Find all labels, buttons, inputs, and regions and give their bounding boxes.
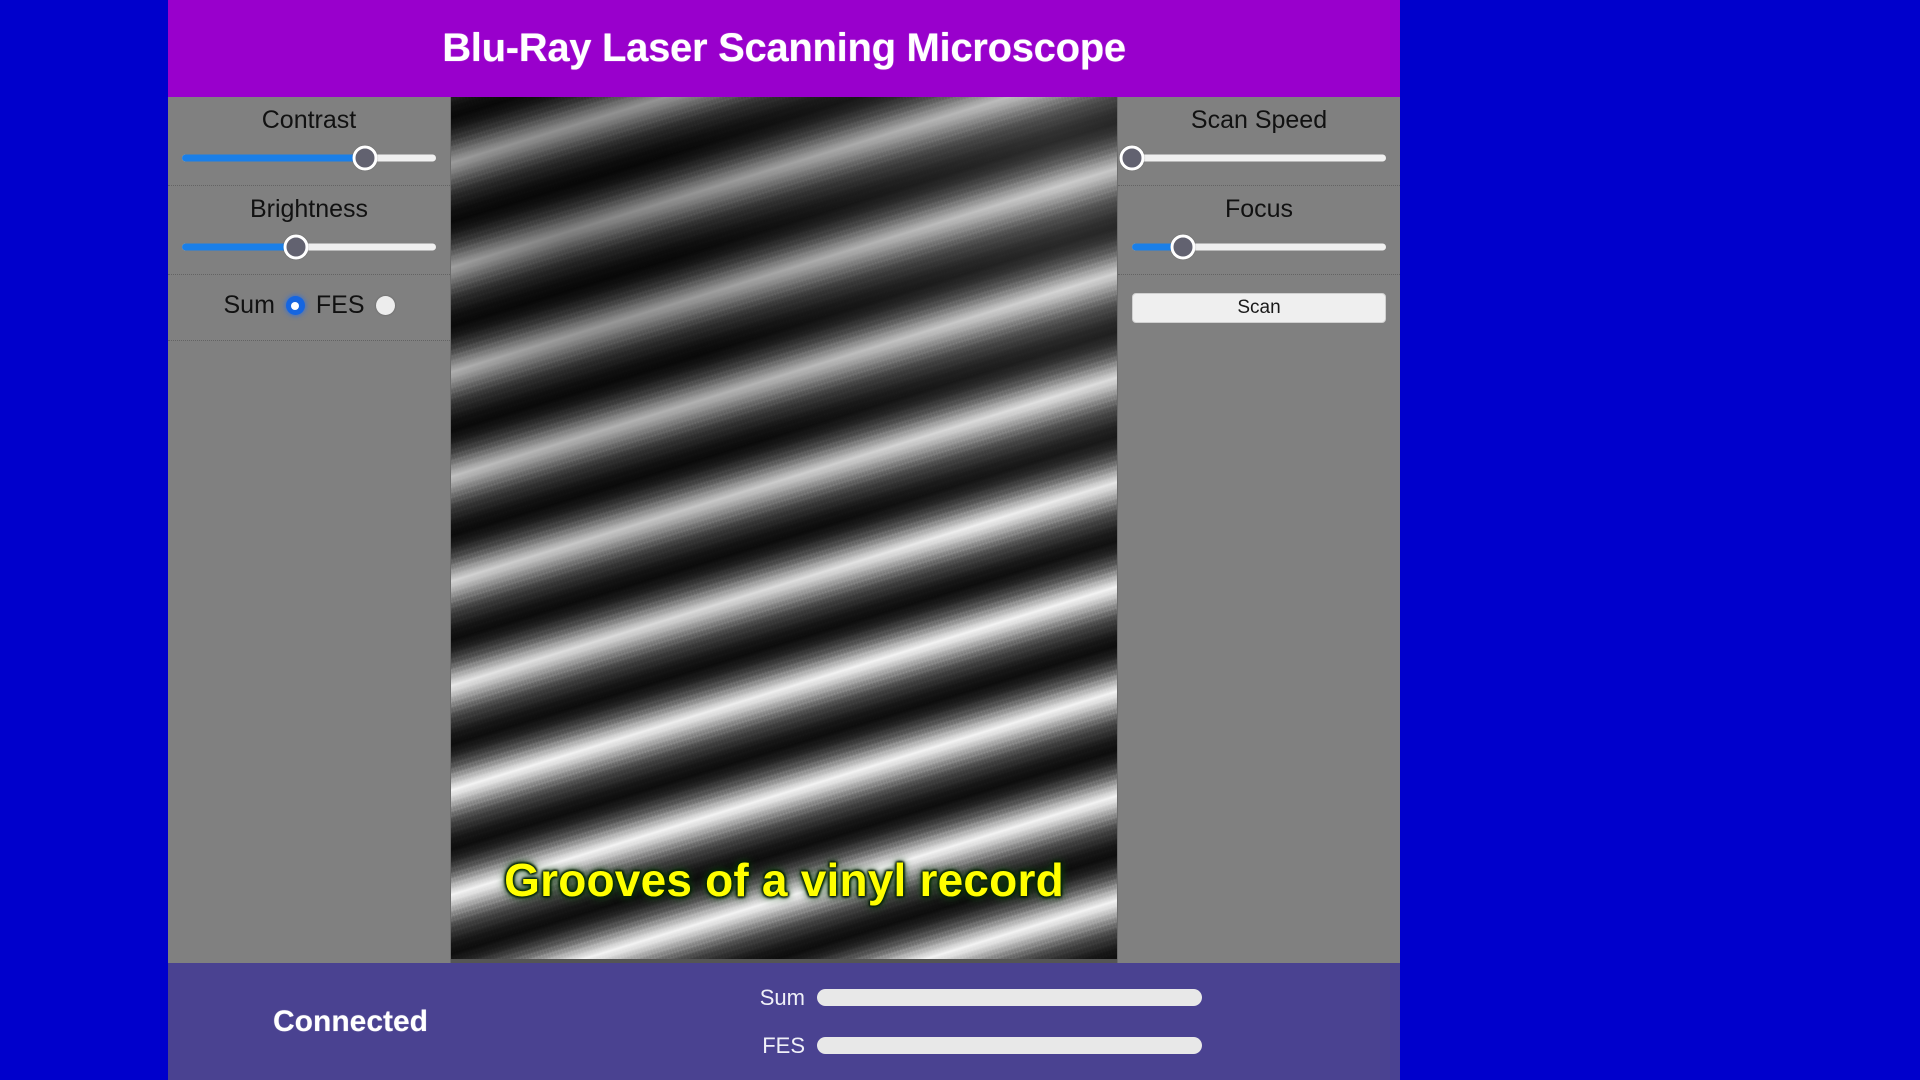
brightness-slider-fill <box>182 244 296 251</box>
scan-speed-slider-thumb[interactable] <box>1120 146 1145 171</box>
microscope-image-pane[interactable]: Grooves of a vinyl record <box>451 97 1117 963</box>
contrast-label: Contrast <box>168 103 450 137</box>
right-control-panel: Scan Speed Focus Scan <box>1117 97 1400 963</box>
signal-meters: Sum FES <box>753 985 1202 1059</box>
contrast-slider[interactable] <box>182 145 436 171</box>
connection-status-text: Connected <box>273 1005 428 1039</box>
brightness-slider[interactable] <box>182 234 436 260</box>
sum-radio-label: Sum <box>223 291 274 320</box>
scan-button-group: Scan <box>1118 275 1400 323</box>
fes-meter-row: FES <box>753 1033 1202 1059</box>
scan-speed-slider-track[interactable] <box>1132 155 1386 162</box>
focus-slider-thumb[interactable] <box>1170 235 1195 260</box>
focus-control-group: Focus <box>1118 186 1400 275</box>
scan-image-shading-overlay <box>451 97 1117 959</box>
sum-meter-row: Sum <box>753 985 1202 1011</box>
sum-meter-track <box>817 989 1202 1006</box>
right-panel-empty-area <box>1118 323 1400 963</box>
fes-meter-label: FES <box>753 1033 805 1059</box>
contrast-slider-thumb[interactable] <box>352 146 377 171</box>
brightness-label: Brightness <box>168 192 450 226</box>
left-panel-empty-area <box>168 341 450 963</box>
fes-meter-track <box>817 1037 1202 1054</box>
page-title: Blu-Ray Laser Scanning Microscope <box>442 26 1126 71</box>
focus-label: Focus <box>1118 192 1400 226</box>
signal-source-radio-group: Sum FES <box>168 275 450 341</box>
title-bar: Blu-Ray Laser Scanning Microscope <box>168 0 1400 97</box>
application-window: Blu-Ray Laser Scanning Microscope Contra… <box>168 0 1400 1080</box>
status-bar: Connected Sum FES <box>168 963 1400 1080</box>
fes-radio-button[interactable] <box>376 296 395 315</box>
scan-button[interactable]: Scan <box>1132 293 1386 323</box>
sum-meter-label: Sum <box>753 985 805 1011</box>
sum-radio-button[interactable] <box>286 296 305 315</box>
scan-speed-control-group: Scan Speed <box>1118 97 1400 186</box>
scan-speed-label: Scan Speed <box>1118 103 1400 137</box>
contrast-slider-fill <box>182 155 365 162</box>
focus-slider[interactable] <box>1132 234 1386 260</box>
left-control-panel: Contrast Brightness Sum FES <box>168 97 451 963</box>
contrast-control-group: Contrast <box>168 97 450 186</box>
brightness-slider-thumb[interactable] <box>284 235 309 260</box>
fes-radio-label: FES <box>316 291 365 320</box>
image-caption: Grooves of a vinyl record <box>451 853 1117 907</box>
main-content-row: Contrast Brightness Sum FES <box>168 97 1400 963</box>
scan-speed-slider[interactable] <box>1132 145 1386 171</box>
brightness-control-group: Brightness <box>168 186 450 275</box>
